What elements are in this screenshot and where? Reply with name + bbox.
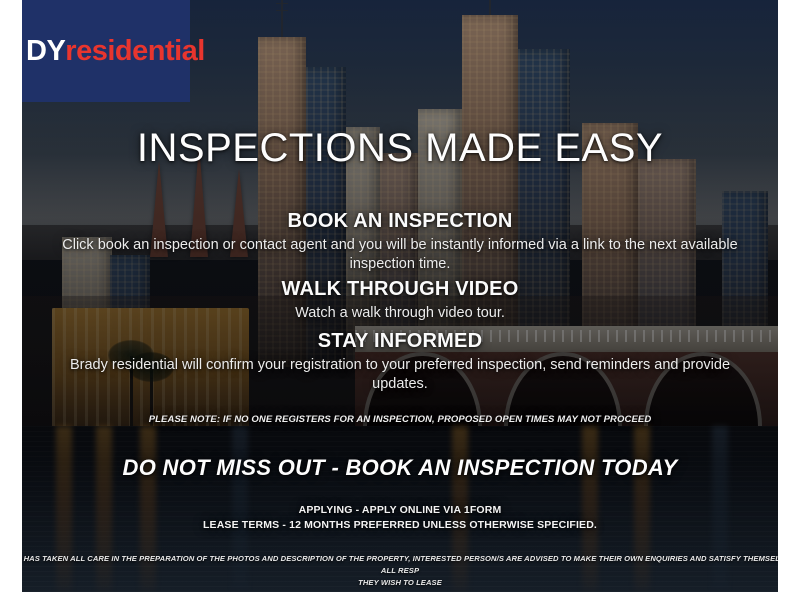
section-heading-video: WALK THROUGH VIDEO: [62, 278, 738, 301]
section-body-informed: Brady residential will confirm your regi…: [62, 356, 738, 393]
please-note-text: PLEASE NOTE: IF NO ONE REGISTERS FOR AN …: [22, 414, 778, 425]
logo-brand-text: DY: [26, 35, 65, 67]
background-photo: DYresidential INSPECTIONS MADE EASY BOOK…: [22, 0, 778, 592]
section-heading-book: BOOK AN INSPECTION: [62, 210, 738, 233]
disclaimer-line-2: THEY WISH TO LEASE: [22, 577, 778, 589]
section-heading-informed: STAY INFORMED: [62, 330, 738, 353]
section-stay-informed: STAY INFORMED Brady residential will con…: [62, 330, 738, 393]
terms-block: APPLYING - APPLY ONLINE VIA 1FORM LEASE …: [22, 503, 778, 533]
call-to-action-text: DO NOT MISS OUT - BOOK AN INSPECTION TOD…: [22, 455, 778, 481]
brady-residential-logo[interactable]: DYresidential: [22, 0, 190, 102]
page-title: INSPECTIONS MADE EASY: [22, 126, 778, 171]
logo-sub-text: residential: [65, 35, 205, 67]
section-book-an-inspection: BOOK AN INSPECTION Click book an inspect…: [62, 210, 738, 273]
lease-terms-line: LEASE TERMS - 12 MONTHS PREFERRED UNLESS…: [22, 518, 778, 533]
disclaimer-line-1: TY LTD HAS TAKEN ALL CARE IN THE PREPARA…: [22, 553, 778, 577]
section-body-video: Watch a walk through video tour.: [62, 304, 738, 323]
section-walk-through-video: WALK THROUGH VIDEO Watch a walk through …: [62, 278, 738, 323]
legal-disclaimer: TY LTD HAS TAKEN ALL CARE IN THE PREPARA…: [22, 553, 778, 588]
applying-line: APPLYING - APPLY ONLINE VIA 1FORM: [22, 503, 778, 518]
logo-wordmark: DYresidential: [26, 35, 205, 68]
poster-canvas: DYresidential INSPECTIONS MADE EASY BOOK…: [0, 0, 800, 600]
section-body-book: Click book an inspection or contact agen…: [62, 236, 738, 273]
